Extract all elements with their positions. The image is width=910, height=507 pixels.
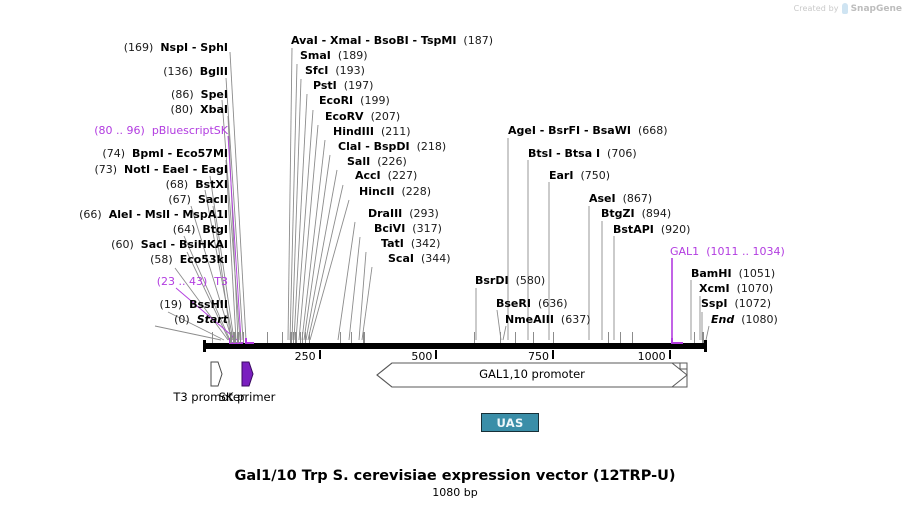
map-label-eco53ki[interactable]: (58) Eco53kI: [0, 254, 228, 266]
label-name: SacII: [198, 193, 228, 206]
label-name: EarI: [549, 169, 573, 182]
map-label-noti[interactable]: (73) NotI - EaeI - EagI: [0, 164, 228, 176]
map-label-ecorv[interactable]: EcoRV (207): [325, 111, 400, 123]
label-position: (0): [174, 313, 190, 326]
label-name: AccI: [355, 169, 381, 182]
cut-site-mark: [694, 332, 695, 343]
label-name: Eco53kI: [180, 253, 228, 266]
cut-site-mark: [240, 332, 241, 343]
ruler-tick: [669, 350, 671, 359]
map-label-btsi[interactable]: BtsI - Btsa I (706): [528, 148, 637, 160]
map-label-bglii[interactable]: (136) BglII: [0, 66, 228, 78]
label-position: (1080): [741, 313, 778, 326]
label-name: XbaI: [200, 103, 228, 116]
label-name: SacI - BsiHKAI: [141, 238, 228, 251]
cut-site-mark: [291, 332, 292, 343]
ruler-tick-label: 500: [390, 351, 432, 362]
label-position: (80 .. 96): [94, 124, 145, 137]
label-name: NotI - EaeI - EagI: [124, 163, 228, 176]
map-label-avai[interactable]: AvaI - XmaI - BsoBI - TspMI (187): [291, 35, 493, 47]
credit-brand: SnapGene: [851, 4, 902, 14]
label-position: (227): [388, 169, 418, 182]
label-name: ScaI: [388, 252, 414, 265]
t3-promoter-glyph[interactable]: [209, 361, 223, 391]
cut-site-mark: [235, 332, 236, 343]
cut-site-mark: [364, 332, 365, 343]
label-name: BseRI: [496, 297, 531, 310]
label-position: (920): [661, 223, 691, 236]
map-label-start[interactable]: (0) Start: [0, 314, 228, 326]
map-label-nspi[interactable]: (169) NspI - SphI: [0, 42, 228, 54]
label-name: BpmI - Eco57MI: [132, 147, 228, 160]
map-label-bsrdi[interactable]: BsrDI (580): [475, 275, 545, 287]
label-position: (19): [160, 298, 183, 311]
label-position: (706): [607, 147, 637, 160]
snapgene-logo-icon: [842, 3, 848, 14]
map-label-smai[interactable]: SmaI (189): [300, 50, 368, 62]
cut-site-mark: [515, 332, 516, 343]
label-name: SalI: [347, 155, 370, 168]
label-position: (80): [171, 103, 194, 116]
label-name: NmeAIII: [505, 313, 554, 326]
label-position: (226): [377, 155, 407, 168]
label-position: (1072): [734, 297, 771, 310]
cut-site-mark: [231, 332, 232, 343]
map-label-tati[interactable]: TatI (342): [381, 238, 440, 250]
ruler-tick: [552, 350, 554, 359]
backbone-start-cap: [203, 340, 206, 352]
cut-site-mark: [305, 332, 306, 343]
map-label-nmeaiii[interactable]: NmeAIII (637): [505, 314, 591, 326]
label-position: (66): [79, 208, 102, 221]
snapgene-credit: Created by SnapGene: [794, 3, 902, 14]
cut-site-mark: [703, 332, 704, 343]
label-position: (68): [166, 178, 189, 191]
map-label-bseri[interactable]: BseRI (636): [496, 298, 568, 310]
label-position: (580): [516, 274, 546, 287]
label-position: (894): [642, 207, 672, 220]
label-name: AgeI - BsrFI - BsaWI: [508, 124, 631, 137]
cut-site-mark: [500, 332, 501, 343]
sk-primer-legend-label: SK primer: [193, 390, 301, 404]
label-position: (317): [412, 222, 442, 235]
label-position: (169): [124, 41, 154, 54]
cut-site-mark: [267, 332, 268, 343]
label-position: (207): [371, 110, 401, 123]
cut-site-mark: [351, 332, 352, 343]
label-name: BtsI - Btsa I: [528, 147, 600, 160]
label-name: Start: [197, 313, 228, 326]
map-label-xcmi[interactable]: XcmI (1070): [699, 283, 773, 295]
label-position: (86): [171, 88, 194, 101]
map-label-acci[interactable]: AccI (227): [355, 170, 417, 182]
ruler-tick-label: 1000: [624, 351, 666, 362]
label-position: (58): [150, 253, 173, 266]
label-position: (193): [335, 64, 365, 77]
label-name: SmaI: [300, 49, 331, 62]
map-label-sali[interactable]: SalI (226): [347, 156, 407, 168]
cut-site-mark: [632, 332, 633, 343]
label-name: EcoRV: [325, 110, 364, 123]
cut-site-mark: [212, 332, 213, 343]
label-name: PstI: [313, 79, 337, 92]
label-name: HincII: [359, 185, 395, 198]
label-name: BglII: [200, 65, 228, 78]
cut-site-mark: [620, 332, 621, 343]
label-name: BtgZI: [601, 207, 635, 220]
cut-site-mark: [296, 332, 297, 343]
label-position: (23 .. 43): [157, 275, 208, 288]
label-position: (293): [409, 207, 439, 220]
map-label-draiii[interactable]: DraIII (293): [368, 208, 439, 220]
cut-site-mark: [553, 332, 554, 343]
map-label-bsshii[interactable]: (19) BssHII: [0, 299, 228, 311]
cut-site-mark: [474, 332, 475, 343]
map-label-psti[interactable]: PstI (197): [313, 80, 373, 92]
sk-primer-glyph[interactable]: [240, 361, 254, 391]
label-name: BssHII: [189, 298, 228, 311]
label-position: (1051): [739, 267, 776, 280]
label-name: BstAPI: [613, 223, 654, 236]
label-position: (750): [580, 169, 610, 182]
ruler-tick-label: 250: [274, 351, 316, 362]
label-position: (199): [360, 94, 390, 107]
ruler-tick: [435, 350, 437, 359]
map-label-hindiii[interactable]: HindIII (211): [333, 126, 411, 138]
map-label-clai[interactable]: ClaI - BspDI (218): [338, 141, 446, 153]
map-label-asei[interactable]: AseI (867): [589, 193, 652, 205]
label-name: pBluescriptSK: [152, 124, 228, 137]
ruler-tick: [319, 350, 321, 359]
label-position: (74): [102, 147, 125, 160]
cut-site-mark: [300, 332, 301, 343]
label-position: (342): [411, 237, 441, 250]
cut-site-mark: [608, 332, 609, 343]
map-label-ecori[interactable]: EcoRI (199): [319, 95, 390, 107]
label-position: (218): [417, 140, 447, 153]
label-name: BstXI: [195, 178, 228, 191]
map-label-bpmi[interactable]: (74) BpmI - Eco57MI: [0, 148, 228, 160]
label-position: (636): [538, 297, 568, 310]
label-position: (187): [463, 34, 493, 47]
map-label-hincii[interactable]: HincII (228): [359, 186, 431, 198]
label-position: (668): [638, 124, 668, 137]
map-label-alei[interactable]: (66) AleI - MslI - MspA1I: [0, 209, 228, 221]
map-label-bcivi[interactable]: BciVI (317): [374, 223, 442, 235]
label-position: (73): [94, 163, 117, 176]
label-position: (867): [623, 192, 653, 205]
label-name: AleI - MslI - MspA1I: [109, 208, 228, 221]
label-name: BsrDI: [475, 274, 509, 287]
label-position: (1070): [737, 282, 774, 295]
label-name: BciVI: [374, 222, 405, 235]
cut-site-mark: [238, 332, 239, 343]
label-name: SspI: [701, 297, 727, 310]
cut-site-mark: [533, 332, 534, 343]
label-position: (136): [163, 65, 193, 78]
ruler-tick-label: 750: [507, 351, 549, 362]
label-position: (67): [168, 193, 191, 206]
uas-badge[interactable]: UAS: [481, 413, 539, 432]
map-label-bstxi[interactable]: (68) BstXI: [0, 179, 228, 191]
label-name: ClaI - BspDI: [338, 140, 410, 153]
label-position: (228): [402, 185, 432, 198]
label-name: GAL1: [670, 245, 699, 258]
map-label-sfci[interactable]: SfcI (193): [305, 65, 365, 77]
map-label-bamhi[interactable]: BamHI (1051): [691, 268, 775, 280]
label-name: End: [711, 313, 734, 326]
map-label-gal1[interactable]: GAL1 (1011 .. 1034): [670, 246, 785, 258]
map-label-agei[interactable]: AgeI - BsrFI - BsaWI (668): [508, 125, 668, 137]
sk-feature-bracket-bar[interactable]: [245, 342, 254, 344]
label-position: (1011 .. 1034): [706, 245, 785, 258]
map-label-pbluescriptsk[interactable]: (80 .. 96) pBluescriptSK: [0, 125, 228, 137]
backbone-end-cap: [704, 340, 707, 352]
plasmid-map-canvas: Created by SnapGene: [0, 0, 910, 507]
map-label-bstapi[interactable]: BstAPI (920): [613, 224, 690, 236]
label-position: (344): [421, 252, 451, 265]
label-name: AvaI - XmaI - BsoBI - TspMI: [291, 34, 456, 47]
map-label-xbai[interactable]: (80) XbaI: [0, 104, 228, 116]
label-name: EcoRI: [319, 94, 353, 107]
label-position: (197): [344, 79, 374, 92]
map-label-sacii[interactable]: (67) SacII: [0, 194, 228, 206]
label-position: (637): [561, 313, 591, 326]
map-label-end[interactable]: End (1080): [711, 314, 778, 326]
label-name: HindIII: [333, 125, 374, 138]
map-label-t3[interactable]: (23 .. 43) T3: [0, 276, 228, 288]
label-position: (60): [111, 238, 134, 251]
cut-site-mark: [243, 332, 244, 343]
label-name: SpeI: [201, 88, 228, 101]
label-name: BamHI: [691, 267, 732, 280]
label-position: (211): [381, 125, 411, 138]
plasmid-backbone[interactable]: [203, 343, 707, 349]
label-name: SfcI: [305, 64, 328, 77]
label-name: AseI: [589, 192, 616, 205]
cut-site-mark: [340, 332, 341, 343]
cut-site-mark: [302, 332, 303, 343]
label-name: T3: [214, 275, 228, 288]
map-subtitle: 1080 bp: [0, 486, 910, 499]
label-name: BtgI: [202, 223, 228, 236]
gal1-10-promoter-arrow[interactable]: GAL1,10 promoter: [376, 362, 688, 388]
credit-prefix: Created by: [794, 4, 839, 13]
label-name: DraIII: [368, 207, 402, 220]
promoter-label: GAL1,10 promoter: [376, 362, 688, 386]
map-label-spei[interactable]: (86) SpeI: [0, 89, 228, 101]
map-label-btgzi[interactable]: BtgZI (894): [601, 208, 671, 220]
cut-site-mark: [309, 332, 310, 343]
map-label-eari[interactable]: EarI (750): [549, 170, 610, 182]
map-label-sspi[interactable]: SspI (1072): [701, 298, 771, 310]
map-label-saci[interactable]: (60) SacI - BsiHKAI: [0, 239, 228, 251]
label-name: TatI: [381, 237, 404, 250]
cut-site-mark: [282, 332, 283, 343]
label-name: NspI - SphI: [160, 41, 228, 54]
map-label-btgi[interactable]: (64) BtgI: [0, 224, 228, 236]
label-position: (64): [173, 223, 196, 236]
label-position: (189): [338, 49, 368, 62]
label-name: XcmI: [699, 282, 730, 295]
map-title: Gal1/10 Trp S. cerevisiae expression vec…: [0, 468, 910, 484]
gal1-feature-bracket-bar[interactable]: [671, 342, 683, 344]
map-label-scai[interactable]: ScaI (344): [388, 253, 451, 265]
